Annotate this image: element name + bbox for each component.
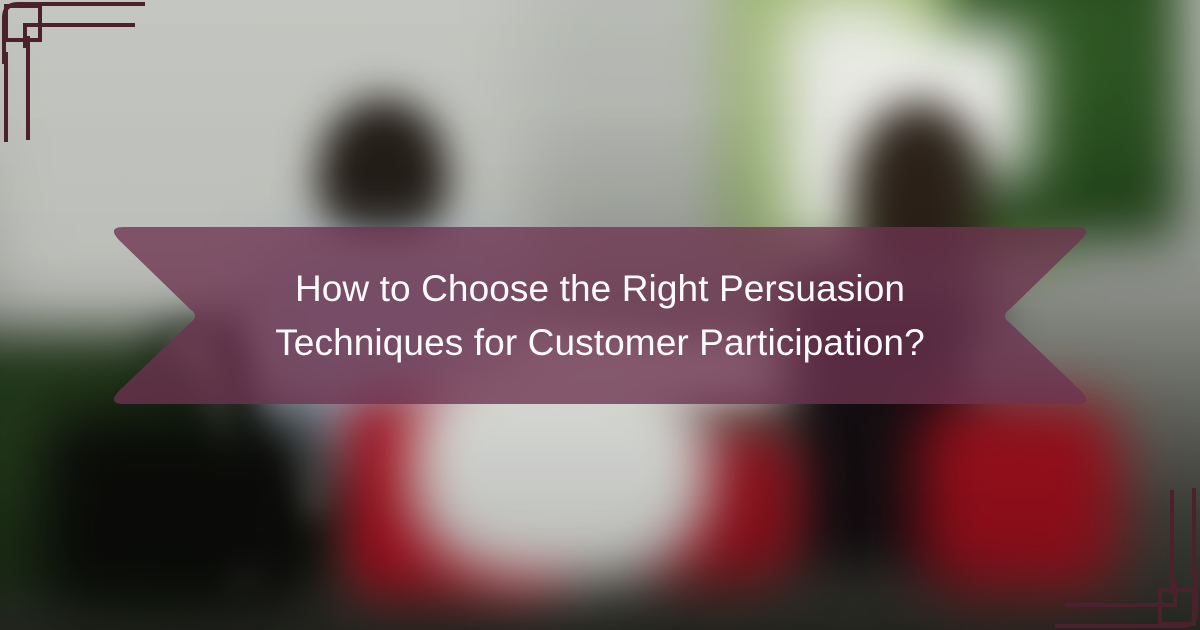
page-title-line-1: How to Choose the Right Persuasion: [240, 262, 960, 316]
page-title-line-2: Techniques for Customer Participation?: [240, 316, 960, 370]
title-banner: How to Choose the Right Persuasion Techn…: [106, 227, 1094, 404]
share-card: How to Choose the Right Persuasion Techn…: [0, 0, 1200, 630]
title-banner-content: How to Choose the Right Persuasion Techn…: [106, 227, 1094, 404]
page-title: How to Choose the Right Persuasion Techn…: [240, 262, 960, 370]
